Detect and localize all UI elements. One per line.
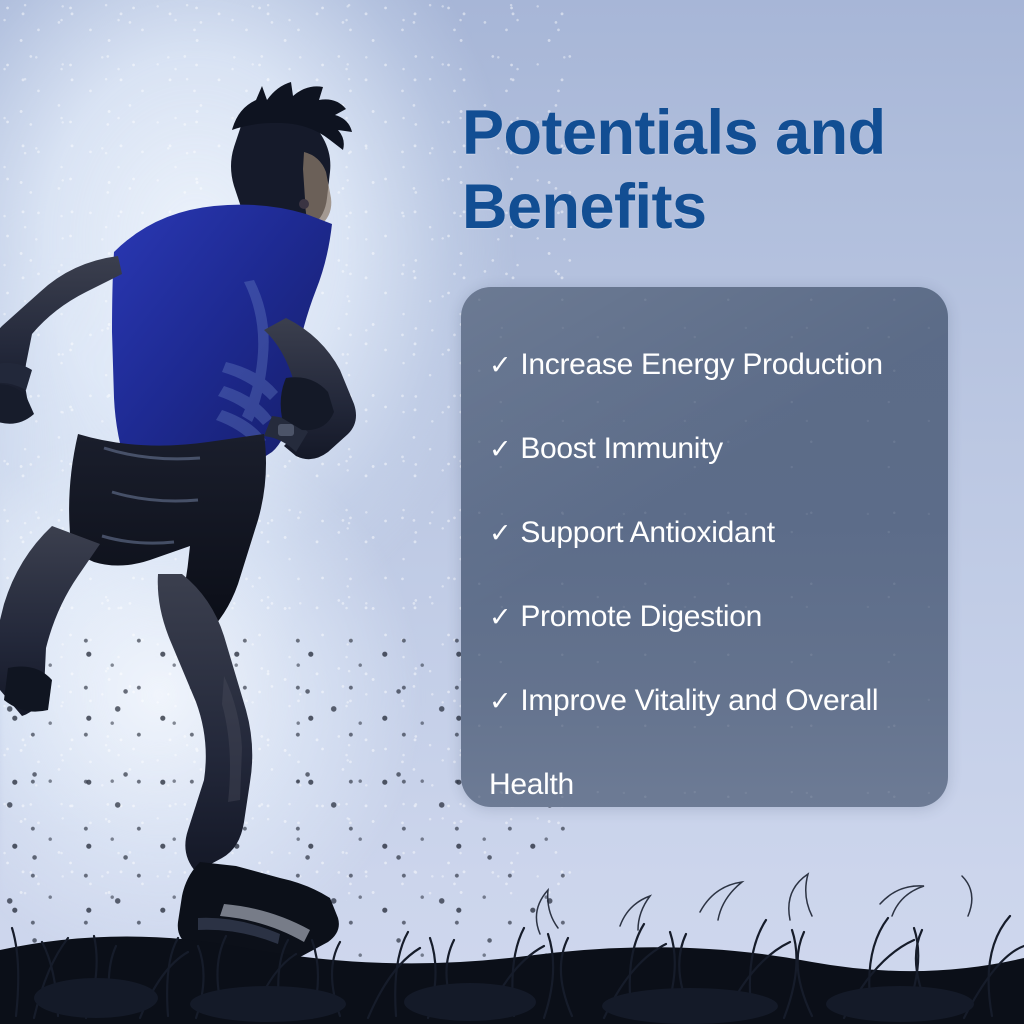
title-line-1: Potentials and <box>462 98 886 168</box>
title-line-2: Benefits <box>462 170 1007 244</box>
list-item: ✓Improve Vitality and Overall Health <box>489 659 930 807</box>
list-item: ✓Boost Immunity <box>489 407 930 491</box>
grass-seed-heads <box>536 874 971 934</box>
list-item-label: Increase Energy Production <box>520 348 882 381</box>
check-icon: ✓ <box>489 660 511 743</box>
page-title: Potentials and Benefits <box>462 96 1007 244</box>
runner-earbud <box>299 199 309 209</box>
benefits-panel: ✓Increase Energy Production ✓Boost Immun… <box>461 287 948 807</box>
runner-rear-foot <box>4 667 52 712</box>
check-icon: ✓ <box>489 492 511 575</box>
check-icon: ✓ <box>489 576 511 659</box>
list-item-label: Boost Immunity <box>520 432 723 465</box>
runner-left-fist <box>0 384 34 423</box>
list-item-label: Promote Digestion <box>520 600 762 633</box>
benefits-poster: Potentials and Benefits ✓Increase Energy… <box>0 0 1024 1024</box>
list-item: ✓Support Antioxidant <box>489 491 930 575</box>
list-item: ✓Promote Digestion <box>489 575 930 659</box>
check-icon: ✓ <box>489 408 511 491</box>
list-item-label: Support Antioxidant <box>520 516 775 549</box>
runner-watch-face <box>278 424 294 436</box>
list-item-label: Improve Vitality and Overall Health <box>489 684 878 801</box>
grass-foreground <box>0 784 1024 1024</box>
check-icon: ✓ <box>489 324 511 407</box>
list-item: ✓Increase Energy Production <box>489 323 930 407</box>
benefits-list: ✓Increase Energy Production ✓Boost Immun… <box>461 287 948 807</box>
